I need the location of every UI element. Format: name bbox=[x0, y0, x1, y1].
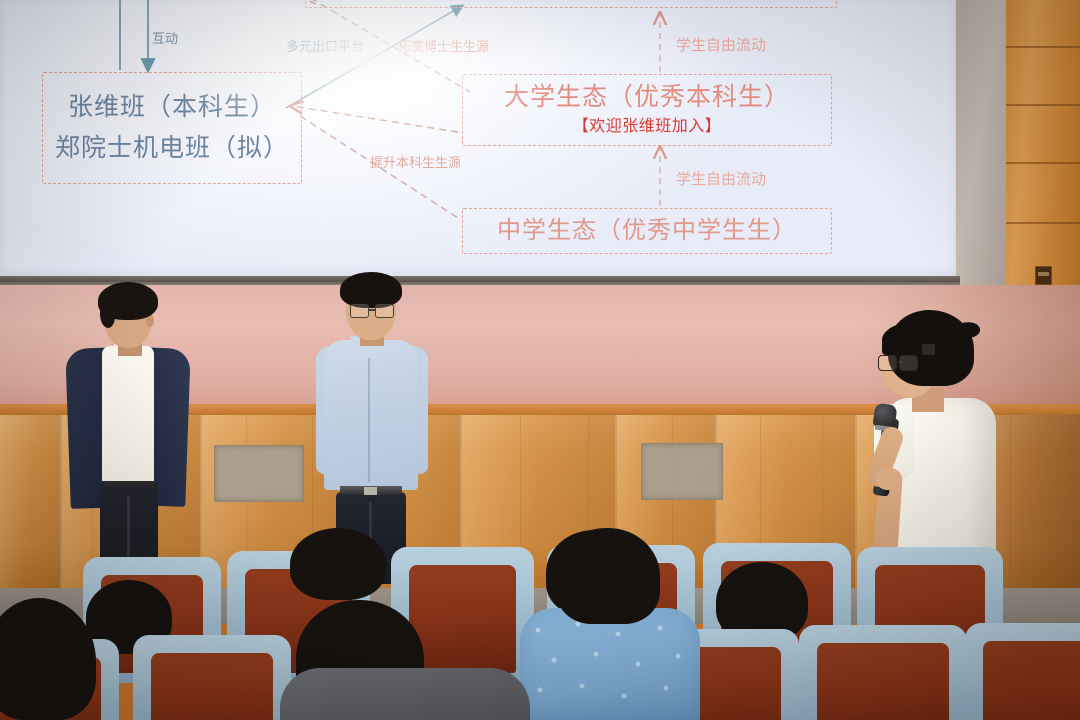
diagram-node-zhangwei-class: 张维班（本科生） 郑院士机电班（拟） bbox=[42, 72, 302, 184]
audience-person-grey-shirt bbox=[280, 668, 530, 720]
audience-head bbox=[556, 528, 660, 624]
diagram-node-highschool-ecosystem: 中学生态（优秀中学生生） bbox=[462, 208, 832, 254]
slide-diagram: 张维班（本科生） 郑院士机电班（拟） 大学生态（优秀本科生） 【欢迎张维班加入】… bbox=[0, 0, 956, 276]
seat bbox=[808, 634, 958, 720]
diagram-node-university-ecosystem: 大学生态（优秀本科生） 【欢迎张维班加入】 bbox=[462, 74, 832, 146]
seat bbox=[142, 644, 282, 720]
node-high-line1: 中学生态（优秀中学生生） bbox=[497, 216, 797, 247]
glasses-icon bbox=[350, 304, 394, 316]
lecture-hall-photo: 张维班（本科生） 郑院士机电班（拟） 大学生态（优秀本科生） 【欢迎张维班加入】… bbox=[0, 0, 1080, 720]
node-univ-line1: 大学生态（优秀本科生） bbox=[504, 82, 790, 114]
seat bbox=[974, 632, 1080, 720]
annotation-liudong-lower: 学生自由流动 bbox=[676, 168, 766, 189]
glasses-icon bbox=[878, 355, 918, 369]
wall-plaque-icon bbox=[1035, 266, 1052, 285]
node-zhangwei-line2: 郑院士机电班（拟） bbox=[55, 133, 289, 165]
annotation-tuokuan-boshi: 拓宽博士生生源 bbox=[398, 36, 489, 55]
diagram-node-top bbox=[305, 0, 837, 8]
annotation-duoyuan-chukou: 多元出口平台 bbox=[286, 36, 364, 55]
projection-screen: 张维班（本科生） 郑院士机电班（拟） 大学生态（优秀本科生） 【欢迎张维班加入】… bbox=[0, 0, 956, 276]
wall-vent-right bbox=[641, 443, 723, 500]
annotation-tisheng-benke: 提升本科生生源 bbox=[370, 152, 461, 171]
audience-person-patterned-shirt bbox=[520, 608, 700, 720]
audience-head bbox=[290, 528, 386, 600]
right-wood-pillar bbox=[1006, 0, 1080, 300]
person-man-navy-suit bbox=[62, 282, 192, 582]
node-zhangwei-line1: 张维班（本科生） bbox=[68, 92, 276, 124]
right-grey-wall bbox=[952, 0, 1012, 300]
annotation-liudong-upper: 学生自由流动 bbox=[676, 34, 766, 55]
wall-vent-left bbox=[214, 445, 304, 502]
node-univ-highlight: 【欢迎张维班加入】 bbox=[573, 117, 722, 137]
earphone-icon bbox=[922, 344, 935, 355]
annotation-hudong: 互动 bbox=[152, 28, 178, 47]
